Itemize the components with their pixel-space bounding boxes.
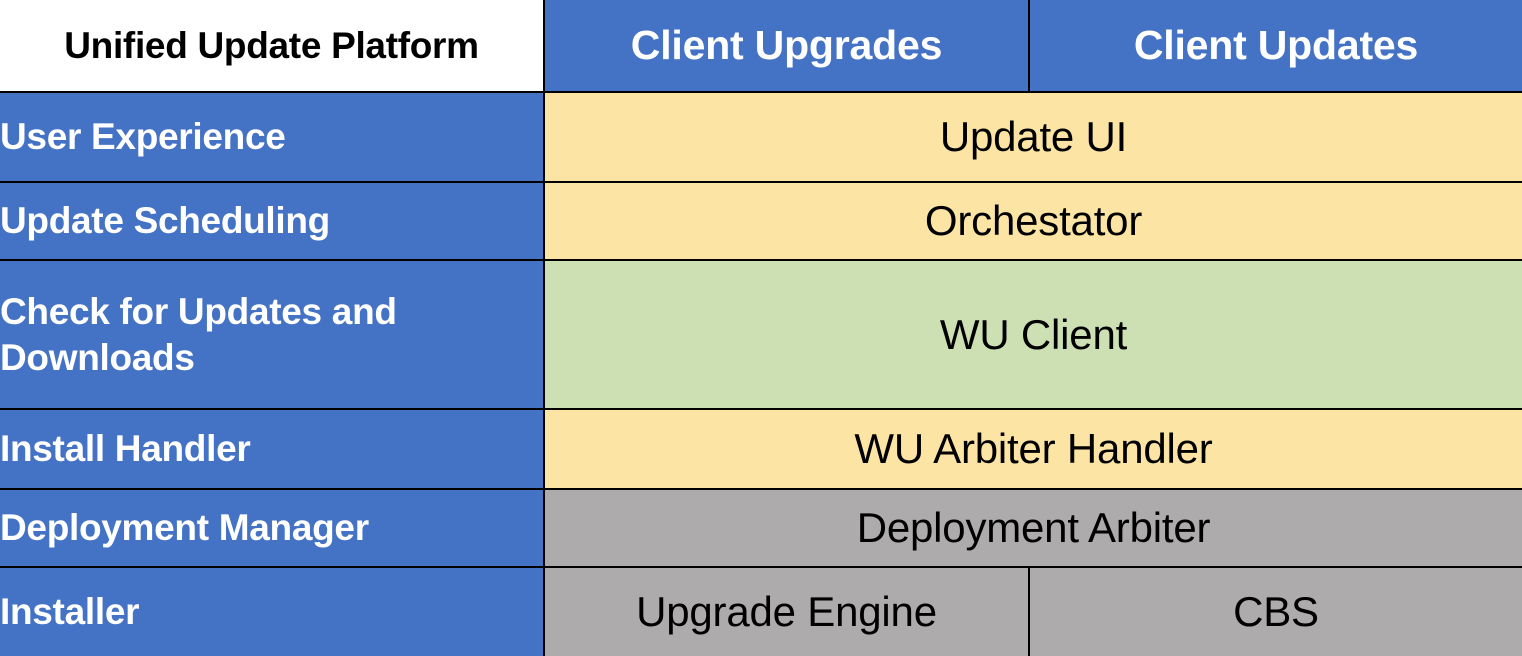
row-label-install-handler: Install Handler [0,409,544,489]
row-label-update-scheduling: Update Scheduling [0,182,544,260]
unified-update-platform-table: Unified Update Platform Client Upgrades … [0,0,1522,656]
column-header-client-upgrades: Client Upgrades [544,0,1029,92]
table-row: Installer Upgrade Engine CBS [0,567,1522,656]
row-label-deployment-manager: Deployment Manager [0,489,544,567]
row-label-installer: Installer [0,567,544,656]
column-header-client-updates: Client Updates [1029,0,1522,92]
cell-upgrade-engine: Upgrade Engine [544,567,1029,656]
table-row: Install Handler WU Arbiter Handler [0,409,1522,489]
table-header-row: Unified Update Platform Client Upgrades … [0,0,1522,92]
row-label-user-experience: User Experience [0,92,544,182]
page-title: Unified Update Platform [0,0,544,92]
cell-orchestator: Orchestator [544,182,1522,260]
cell-wu-client: WU Client [544,260,1522,409]
cell-wu-arbiter-handler: WU Arbiter Handler [544,409,1522,489]
row-label-check-for-updates-and-downloads: Check for Updates and Downloads [0,260,544,409]
cell-cbs: CBS [1029,567,1522,656]
cell-update-ui: Update UI [544,92,1522,182]
table-row: Check for Updates and Downloads WU Clien… [0,260,1522,409]
table-row: User Experience Update UI [0,92,1522,182]
table-row: Update Scheduling Orchestator [0,182,1522,260]
table-row: Deployment Manager Deployment Arbiter [0,489,1522,567]
cell-deployment-arbiter: Deployment Arbiter [544,489,1522,567]
